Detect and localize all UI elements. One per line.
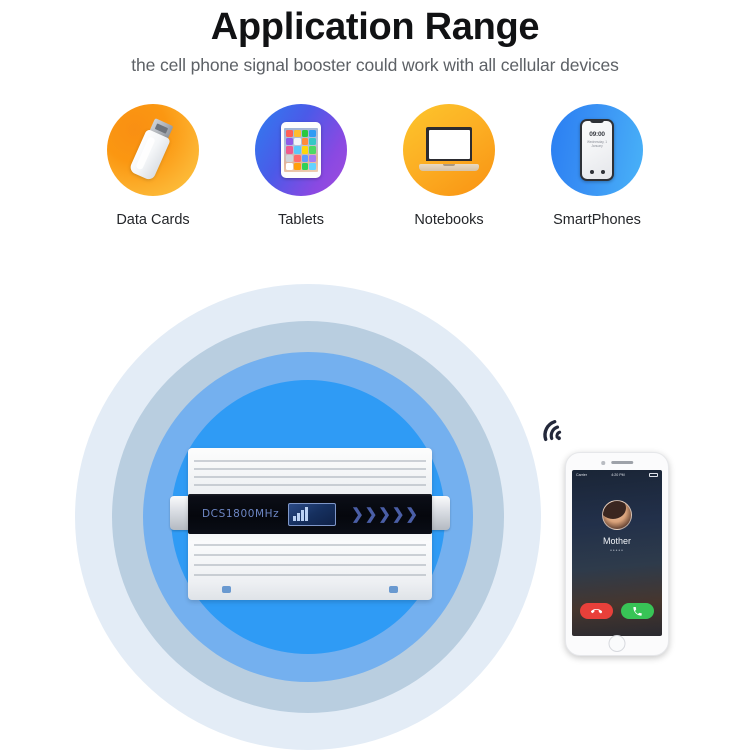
front-camera-icon [601, 461, 605, 465]
phone-shortcut-left [590, 170, 594, 174]
category-label-tablets: Tablets [278, 212, 324, 228]
tablet-app-icon [294, 138, 301, 145]
tablet-screen [284, 128, 318, 172]
usb-stick-shape [117, 111, 190, 189]
laptop-icon [403, 104, 495, 196]
earpiece-grill [611, 461, 633, 464]
booster-brand-text: DCS1800MHz [202, 508, 279, 520]
smartphone-icon: 09:00 Wednesday, 1 January [551, 104, 643, 196]
lcd-signal-bars [293, 507, 308, 521]
tablet-app-icon [309, 146, 316, 153]
category-smartphones: 09:00 Wednesday, 1 January SmartPhones [545, 104, 650, 228]
tablet-app-icon [302, 163, 309, 170]
tablet-app-icon [309, 138, 316, 145]
battery-icon [649, 473, 658, 477]
phone-lockscreen-date: Wednesday, 1 January [582, 140, 612, 148]
tablet-app-icon [294, 130, 301, 137]
tablet-app-icon [302, 138, 309, 145]
tablet-app-icon [286, 130, 293, 137]
tablet-app-icon [286, 155, 293, 162]
tablet-app-icon [309, 130, 316, 137]
booster-screw-right [389, 586, 398, 593]
booster-front-panel: DCS1800MHz ❯❯❯❯❯ [188, 494, 432, 534]
decline-call-button[interactable] [580, 603, 613, 619]
booster-lcd-display [288, 503, 336, 526]
iphone-screen: Carrier 4:20 PM Mother ••••• [572, 470, 662, 636]
wifi-signal-icon [537, 409, 581, 449]
tablet-app-icon [309, 155, 316, 162]
laptop-screen [429, 130, 470, 159]
iphone-frame: Carrier 4:20 PM Mother ••••• [565, 452, 669, 656]
laptop-base [419, 164, 479, 171]
category-notebooks: Notebooks [397, 104, 502, 228]
tablet-app-icon [309, 163, 316, 170]
tablet-app-icon [294, 146, 301, 153]
signal-booster-device: DCS1800MHz ❯❯❯❯❯ [170, 448, 450, 600]
status-bar-time: 4:20 PM [611, 473, 624, 477]
usb-body [128, 129, 170, 182]
booster-screw-left [222, 586, 231, 593]
phone-lockscreen-shortcuts [582, 170, 612, 174]
accept-call-button[interactable] [621, 603, 654, 619]
category-data-cards: Data Cards [101, 104, 206, 228]
category-label-smartphones: SmartPhones [553, 212, 641, 228]
phone-hangup-icon [591, 606, 602, 617]
tablet-app-icon [294, 163, 301, 170]
category-label-data-cards: Data Cards [116, 212, 189, 228]
laptop-shape [419, 127, 479, 173]
caller-name: Mother [572, 536, 662, 546]
tablet-icon [255, 104, 347, 196]
call-actions [572, 603, 662, 619]
laptop-lid [426, 127, 472, 161]
phone-notch [590, 119, 604, 123]
usb-flash-drive-icon [107, 104, 199, 196]
phone-answer-icon [632, 606, 643, 617]
page-header: Application Range the cell phone signal … [0, 0, 750, 76]
tablet-app-icon [286, 138, 293, 145]
booster-chevron-arrows: ❯❯❯❯❯ [351, 507, 418, 522]
page-subtitle: the cell phone signal booster could work… [0, 48, 750, 76]
incoming-call-phone: Carrier 4:20 PM Mother ••••• [565, 452, 669, 656]
device-category-row: Data Cards Tablets Notebooks [0, 104, 750, 228]
application-range-page: Application Range the cell phone signal … [0, 0, 750, 750]
tablet-shape [281, 122, 321, 178]
avatar [602, 500, 632, 530]
home-button[interactable] [609, 635, 626, 652]
iphone-earpiece [601, 461, 633, 465]
tablet-app-icon [286, 146, 293, 153]
phone-shortcut-right [601, 170, 605, 174]
status-bar-carrier: Carrier [576, 473, 587, 477]
status-bar: Carrier 4:20 PM [572, 470, 662, 477]
tablet-app-icon [302, 146, 309, 153]
tablet-app-icon [286, 163, 293, 170]
phone-lockscreen: 09:00 Wednesday, 1 January [582, 121, 612, 179]
caller-subtitle: ••••• [572, 548, 662, 554]
tablet-app-icon [302, 155, 309, 162]
tablet-app-icon [302, 130, 309, 137]
smartphone-shape: 09:00 Wednesday, 1 January [580, 119, 614, 181]
category-tablets: Tablets [249, 104, 354, 228]
phone-lockscreen-time: 09:00 [582, 131, 612, 138]
category-label-notebooks: Notebooks [414, 212, 483, 228]
page-title: Application Range [0, 0, 750, 48]
tablet-app-icon [294, 155, 301, 162]
